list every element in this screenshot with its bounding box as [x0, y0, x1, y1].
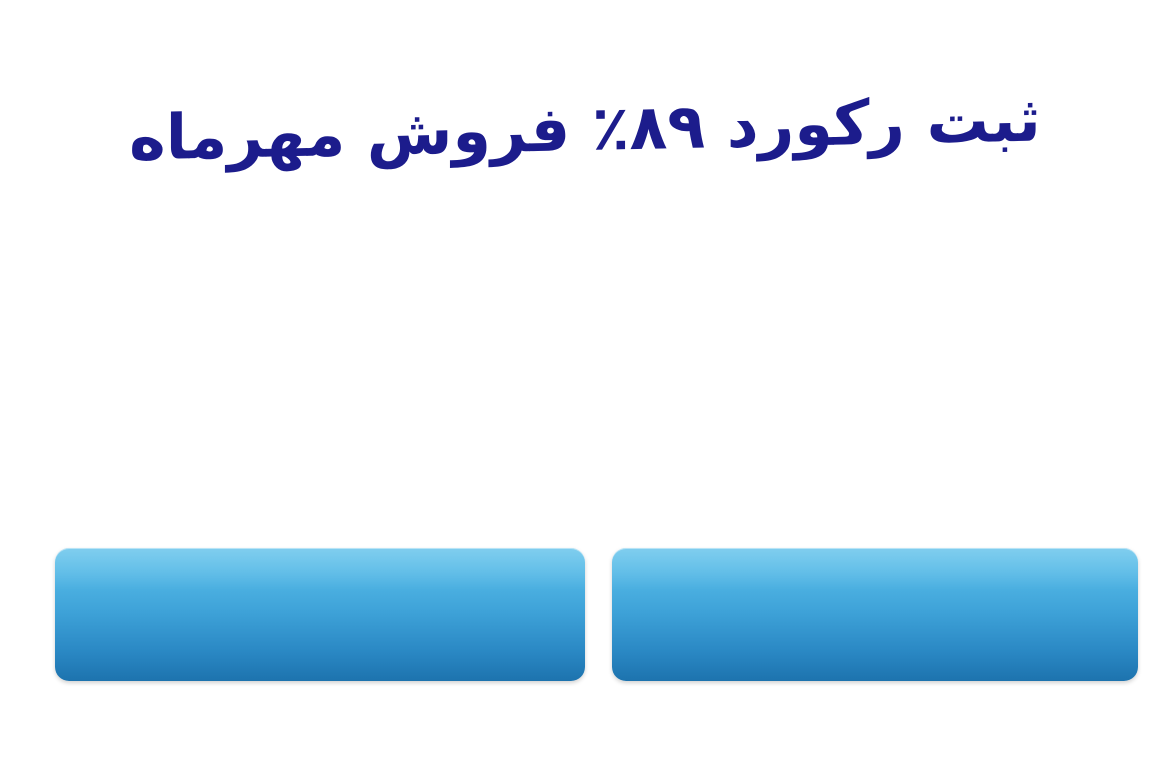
platform-left [55, 548, 585, 681]
platform-right [612, 548, 1138, 681]
page-title: ثبت رکورد ۸۹٪ فروش مهرماه [0, 80, 1170, 178]
